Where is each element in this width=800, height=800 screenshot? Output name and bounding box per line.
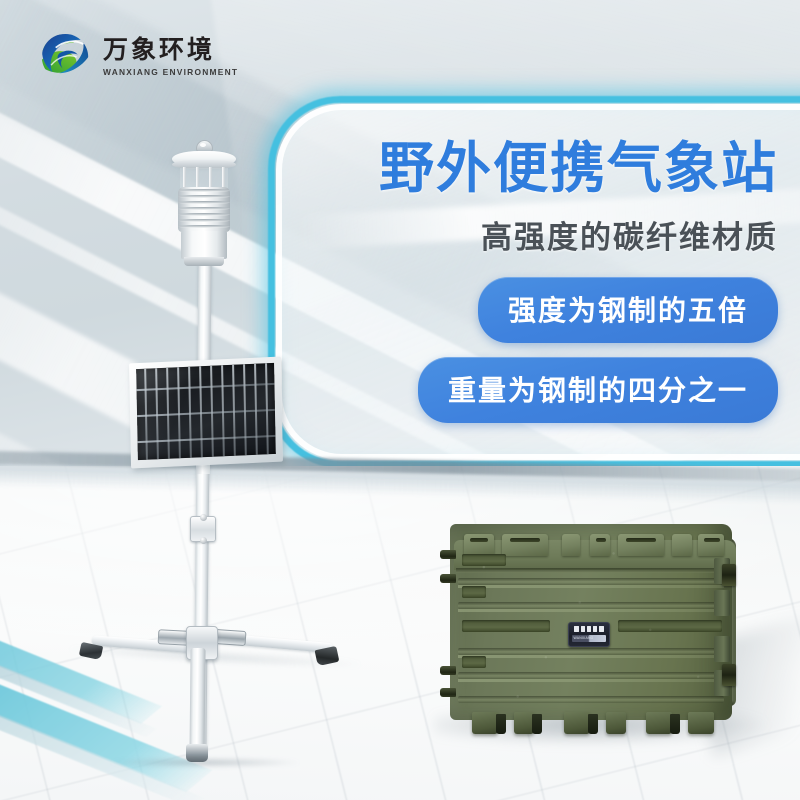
case-top-boss-slot <box>626 538 656 542</box>
case-side-handle <box>440 688 456 697</box>
case-groove <box>462 656 486 668</box>
case-foot <box>606 712 626 734</box>
tripod-ground-shadow <box>110 758 300 767</box>
case-rib <box>458 648 724 655</box>
case-rib <box>458 602 724 609</box>
case-groove <box>462 586 486 598</box>
tripod-hub-sleeve-right <box>214 629 247 646</box>
case-side-handle <box>440 666 456 675</box>
case-top-boss-slot <box>704 538 720 542</box>
case-label-text: WANXIANG <box>572 635 606 642</box>
case-top-boss <box>562 534 580 556</box>
case-foot-pad <box>588 714 598 734</box>
case-top-boss <box>672 534 692 556</box>
case-top-boss-slot <box>596 538 606 542</box>
military-transport-case: WANXIANG <box>446 508 746 740</box>
case-shell: WANXIANG <box>450 524 732 720</box>
case-rib-highlight <box>458 585 724 588</box>
case-foot <box>688 712 714 734</box>
case-rib-highlight <box>458 609 724 612</box>
tripod-center-leg <box>189 648 205 758</box>
case-foot-pad <box>496 714 506 734</box>
case-top-boss-slot <box>510 538 540 542</box>
case-rib <box>458 696 724 703</box>
case-rib <box>458 672 724 679</box>
case-foot <box>564 712 590 734</box>
case-foot <box>514 712 534 734</box>
case-side-handle <box>440 574 456 583</box>
case-foot <box>472 712 498 734</box>
case-side-handle <box>440 550 456 559</box>
case-groove <box>462 554 506 566</box>
case-lid-lip <box>456 568 734 573</box>
case-rib-highlight <box>458 679 724 682</box>
case-top-boss-slot <box>470 538 488 542</box>
case-rib-highlight <box>458 655 724 658</box>
case-foot <box>646 712 672 734</box>
case-foot-pad <box>670 714 680 734</box>
case-side-boss <box>714 636 730 662</box>
case-side-boss <box>714 590 730 616</box>
case-groove <box>618 620 722 632</box>
case-groove <box>462 620 550 632</box>
case-label-indicators <box>572 626 606 632</box>
case-label-bar: WANXIANG <box>572 635 606 642</box>
case-label-plate: WANXIANG <box>568 622 610 647</box>
case-latch <box>722 664 736 686</box>
case-foot-pad <box>532 714 542 734</box>
case-latch <box>722 564 736 586</box>
product-banner: 万象环境 WANXIANG ENVIRONMENT 野外便携气象站 高强度的碳纤… <box>0 0 800 800</box>
case-rib <box>458 578 724 585</box>
